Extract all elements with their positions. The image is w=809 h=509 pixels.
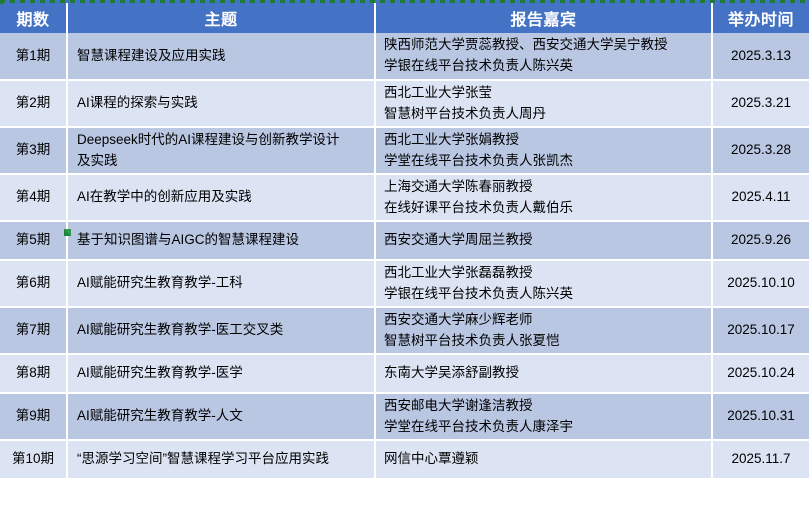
cell-guest-line: 西北工业大学张娟教授 (384, 130, 705, 151)
cell-guest[interactable]: 西安交通大学麻少辉老师智慧树平台技术负责人张夏恺 (375, 307, 712, 354)
cell-date[interactable]: 2025.4.11 (712, 174, 809, 221)
cell-topic-line: AI赋能研究生教育教学-医学 (77, 363, 368, 384)
cell-topic-line: AI赋能研究生教育教学-医工交叉类 (77, 320, 368, 341)
schedule-table: 期数 主题 报告嘉宾 举办时间 第1期智慧课程建设及应用实践陕西师范大学贾蕊教授… (0, 3, 809, 480)
cell-guest[interactable]: 东南大学吴添舒副教授 (375, 354, 712, 393)
cell-guest-line: 智慧树平台技术负责人张夏恺 (384, 331, 705, 352)
cell-date[interactable]: 2025.9.26 (712, 221, 809, 260)
cell-guest-line: 学银在线平台技术负责人陈兴英 (384, 56, 705, 77)
cell-guest[interactable]: 西安交通大学周屈兰教授 (375, 221, 712, 260)
table-row[interactable]: 第6期AI赋能研究生教育教学-工科西北工业大学张磊磊教授学银在线平台技术负责人陈… (0, 260, 809, 307)
cell-guest[interactable]: 西安邮电大学谢逢洁教授学堂在线平台技术负责人康泽宇 (375, 393, 712, 440)
table-row[interactable]: 第2期AI课程的探索与实践西北工业大学张莹智慧树平台技术负责人周丹2025.3.… (0, 80, 809, 127)
cell-topic-line: AI赋能研究生教育教学-工科 (77, 273, 368, 294)
cell-guest[interactable]: 网信中心覃遵颖 (375, 440, 712, 479)
cell-guest[interactable]: 西北工业大学张莹智慧树平台技术负责人周丹 (375, 80, 712, 127)
column-header-guest[interactable]: 报告嘉宾 (375, 3, 712, 33)
table-body: 第1期智慧课程建设及应用实践陕西师范大学贾蕊教授、西安交通大学吴宁教授学银在线平… (0, 33, 809, 479)
cell-period[interactable]: 第1期 (0, 33, 67, 80)
cell-guest-line: 陕西师范大学贾蕊教授、西安交通大学吴宁教授 (384, 35, 705, 56)
cell-topic-line: 智慧课程建设及应用实践 (77, 46, 368, 67)
cell-guest-line: 学堂在线平台技术负责人张凯杰 (384, 151, 705, 172)
cell-period[interactable]: 第7期 (0, 307, 67, 354)
cell-period[interactable]: 第9期 (0, 393, 67, 440)
cell-guest[interactable]: 西北工业大学张磊磊教授学银在线平台技术负责人陈兴英 (375, 260, 712, 307)
cell-date[interactable]: 2025.11.7 (712, 440, 809, 479)
cell-topic[interactable]: AI在教学中的创新应用及实践 (67, 174, 375, 221)
cell-date[interactable]: 2025.3.13 (712, 33, 809, 80)
cell-topic[interactable]: “思源学习空间”智慧课程学习平台应用实践 (67, 440, 375, 479)
table-row[interactable]: 第9期AI赋能研究生教育教学-人文西安邮电大学谢逢洁教授学堂在线平台技术负责人康… (0, 393, 809, 440)
cell-topic[interactable]: 基于知识图谱与AIGC的智慧课程建设 (67, 221, 375, 260)
cell-topic-line: “思源学习空间”智慧课程学习平台应用实践 (77, 449, 368, 470)
cell-topic[interactable]: AI赋能研究生教育教学-人文 (67, 393, 375, 440)
fill-handle[interactable] (64, 229, 71, 236)
spreadsheet-canvas: 期数 主题 报告嘉宾 举办时间 第1期智慧课程建设及应用实践陕西师范大学贾蕊教授… (0, 0, 809, 509)
cell-date[interactable]: 2025.3.28 (712, 127, 809, 174)
cell-guest-line: 西安交通大学麻少辉老师 (384, 310, 705, 331)
selection-corner-marker (0, 0, 3, 4)
cell-guest[interactable]: 上海交通大学陈春丽教授在线好课平台技术负责人戴伯乐 (375, 174, 712, 221)
column-header-period[interactable]: 期数 (0, 3, 67, 33)
table-row[interactable]: 第4期AI在教学中的创新应用及实践上海交通大学陈春丽教授在线好课平台技术负责人戴… (0, 174, 809, 221)
cell-period[interactable]: 第3期 (0, 127, 67, 174)
cell-guest-line: 智慧树平台技术负责人周丹 (384, 104, 705, 125)
cell-topic[interactable]: AI赋能研究生教育教学-工科 (67, 260, 375, 307)
table-row[interactable]: 第10期“思源学习空间”智慧课程学习平台应用实践网信中心覃遵颖2025.11.7 (0, 440, 809, 479)
cell-guest-line: 西北工业大学张莹 (384, 83, 705, 104)
cell-topic[interactable]: AI赋能研究生教育教学-医学 (67, 354, 375, 393)
table-row[interactable]: 第1期智慧课程建设及应用实践陕西师范大学贾蕊教授、西安交通大学吴宁教授学银在线平… (0, 33, 809, 80)
cell-guest-line: 西安交通大学周屈兰教授 (384, 230, 705, 251)
cell-period[interactable]: 第2期 (0, 80, 67, 127)
cell-topic-line: 基于知识图谱与AIGC的智慧课程建设 (77, 230, 368, 251)
cell-date[interactable]: 2025.10.17 (712, 307, 809, 354)
table-row[interactable]: 第5期基于知识图谱与AIGC的智慧课程建设西安交通大学周屈兰教授2025.9.2… (0, 221, 809, 260)
cell-topic-line: AI课程的探索与实践 (77, 93, 368, 114)
cell-guest-line: 学堂在线平台技术负责人康泽宇 (384, 417, 705, 438)
cell-topic-line: Deepseek时代的AI课程建设与创新教学设计 (77, 130, 368, 151)
table-row[interactable]: 第8期AI赋能研究生教育教学-医学东南大学吴添舒副教授2025.10.24 (0, 354, 809, 393)
cell-guest-line: 上海交通大学陈春丽教授 (384, 177, 705, 198)
cell-guest-line: 东南大学吴添舒副教授 (384, 363, 705, 384)
cell-guest[interactable]: 西北工业大学张娟教授学堂在线平台技术负责人张凯杰 (375, 127, 712, 174)
cell-guest[interactable]: 陕西师范大学贾蕊教授、西安交通大学吴宁教授学银在线平台技术负责人陈兴英 (375, 33, 712, 80)
cell-topic-line: AI在教学中的创新应用及实践 (77, 187, 368, 208)
cell-topic[interactable]: AI赋能研究生教育教学-医工交叉类 (67, 307, 375, 354)
cell-topic-line: AI赋能研究生教育教学-人文 (77, 406, 368, 427)
table-header: 期数 主题 报告嘉宾 举办时间 (0, 3, 809, 33)
cell-guest-line: 网信中心覃遵颖 (384, 449, 705, 470)
cell-topic[interactable]: Deepseek时代的AI课程建设与创新教学设计及实践 (67, 127, 375, 174)
cell-date[interactable]: 2025.10.10 (712, 260, 809, 307)
column-header-topic[interactable]: 主题 (67, 3, 375, 33)
cell-guest-line: 西安邮电大学谢逢洁教授 (384, 396, 705, 417)
cell-date[interactable]: 2025.10.24 (712, 354, 809, 393)
cell-guest-line: 学银在线平台技术负责人陈兴英 (384, 284, 705, 305)
cell-period[interactable]: 第4期 (0, 174, 67, 221)
cell-topic[interactable]: AI课程的探索与实践 (67, 80, 375, 127)
cell-topic[interactable]: 智慧课程建设及应用实践 (67, 33, 375, 80)
cell-guest-line: 在线好课平台技术负责人戴伯乐 (384, 198, 705, 219)
cell-period[interactable]: 第8期 (0, 354, 67, 393)
table-row[interactable]: 第3期Deepseek时代的AI课程建设与创新教学设计及实践西北工业大学张娟教授… (0, 127, 809, 174)
cell-period[interactable]: 第6期 (0, 260, 67, 307)
cell-period[interactable]: 第10期 (0, 440, 67, 479)
table-row[interactable]: 第7期AI赋能研究生教育教学-医工交叉类西安交通大学麻少辉老师智慧树平台技术负责… (0, 307, 809, 354)
cell-date[interactable]: 2025.3.21 (712, 80, 809, 127)
cell-period[interactable]: 第5期 (0, 221, 67, 260)
header-row: 期数 主题 报告嘉宾 举办时间 (0, 3, 809, 33)
cell-guest-line: 西北工业大学张磊磊教授 (384, 263, 705, 284)
cell-topic-line: 及实践 (77, 151, 368, 172)
cell-date[interactable]: 2025.10.31 (712, 393, 809, 440)
column-header-date[interactable]: 举办时间 (712, 3, 809, 33)
